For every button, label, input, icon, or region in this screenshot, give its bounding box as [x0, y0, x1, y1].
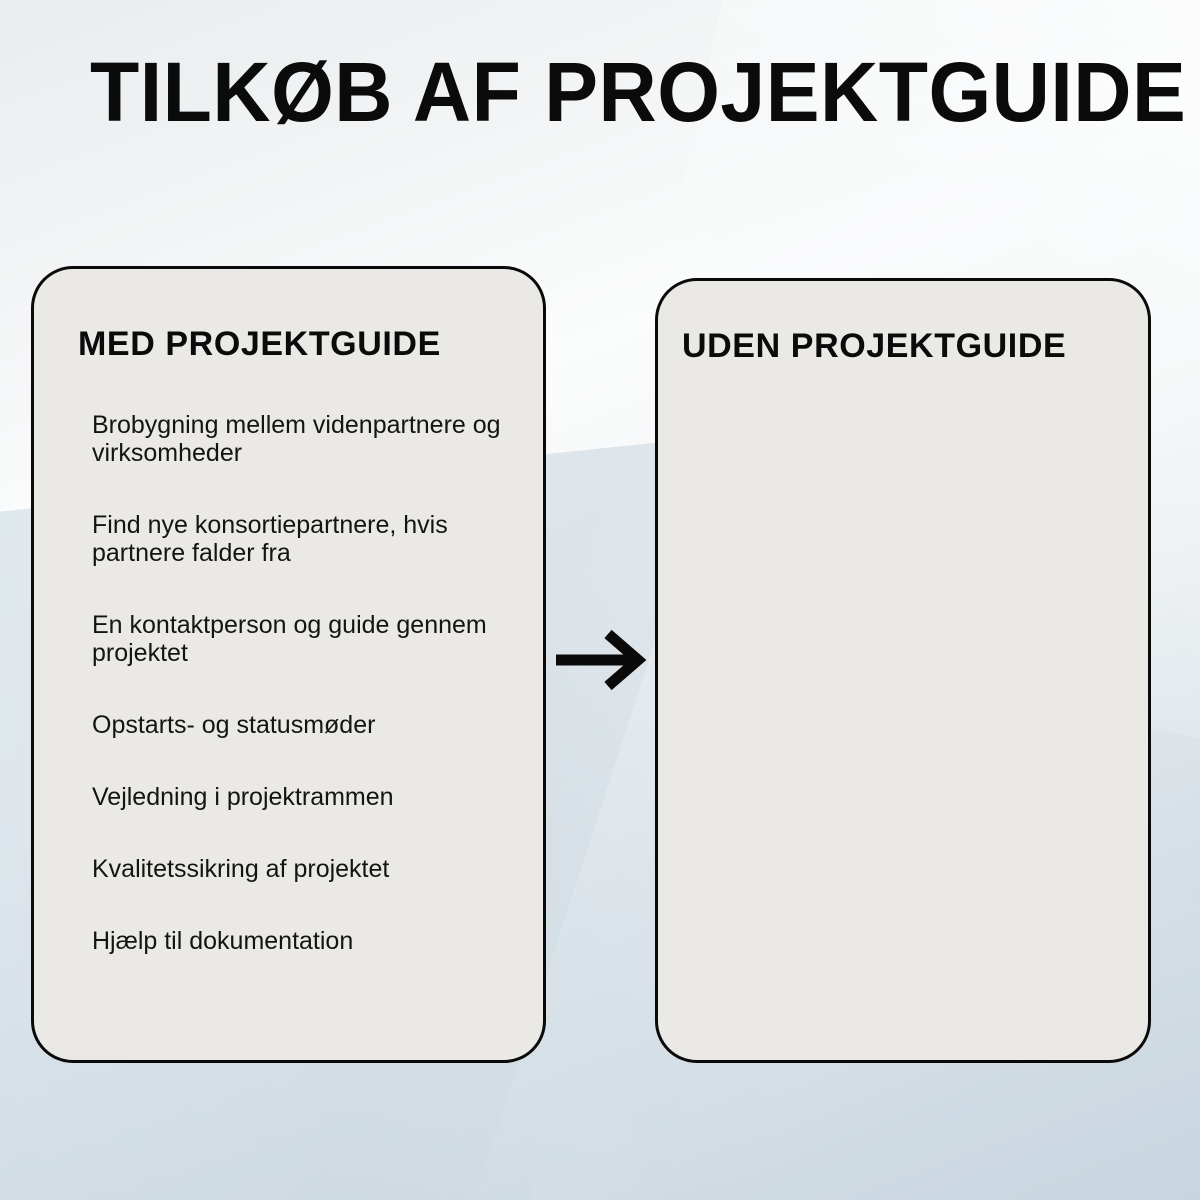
list-item: En kontaktperson og guide gennem projekt… [92, 611, 540, 667]
benefit-list: Brobygning mellem videnpartnere og virks… [92, 411, 540, 955]
list-item: Opstarts- og statusmøder [92, 711, 540, 739]
panel-without-projectguide: UDEN PROJEKTGUIDE [655, 278, 1151, 1063]
panel-with-heading: MED PROJEKTGUIDE [78, 324, 441, 364]
panel-with-projectguide: MED PROJEKTGUIDE Brobygning mellem viden… [31, 266, 546, 1063]
list-item: Find nye konsortiepartnere, hvis partner… [92, 511, 540, 567]
list-item: Brobygning mellem videnpartnere og virks… [92, 411, 540, 467]
list-item: Kvalitetssikring af projektet [92, 855, 540, 883]
page-title: TILKØB AF PROJEKTGUIDE [90, 44, 1088, 140]
list-item: Vejledning i projektrammen [92, 783, 540, 811]
list-item: Hjælp til dokumentation [92, 927, 540, 955]
comparison-infographic: TILKØB AF PROJEKTGUIDE MED PROJEKTGUIDE … [0, 0, 1200, 1200]
panel-without-heading: UDEN PROJEKTGUIDE [682, 326, 1066, 366]
arrow-right-icon [552, 628, 648, 692]
